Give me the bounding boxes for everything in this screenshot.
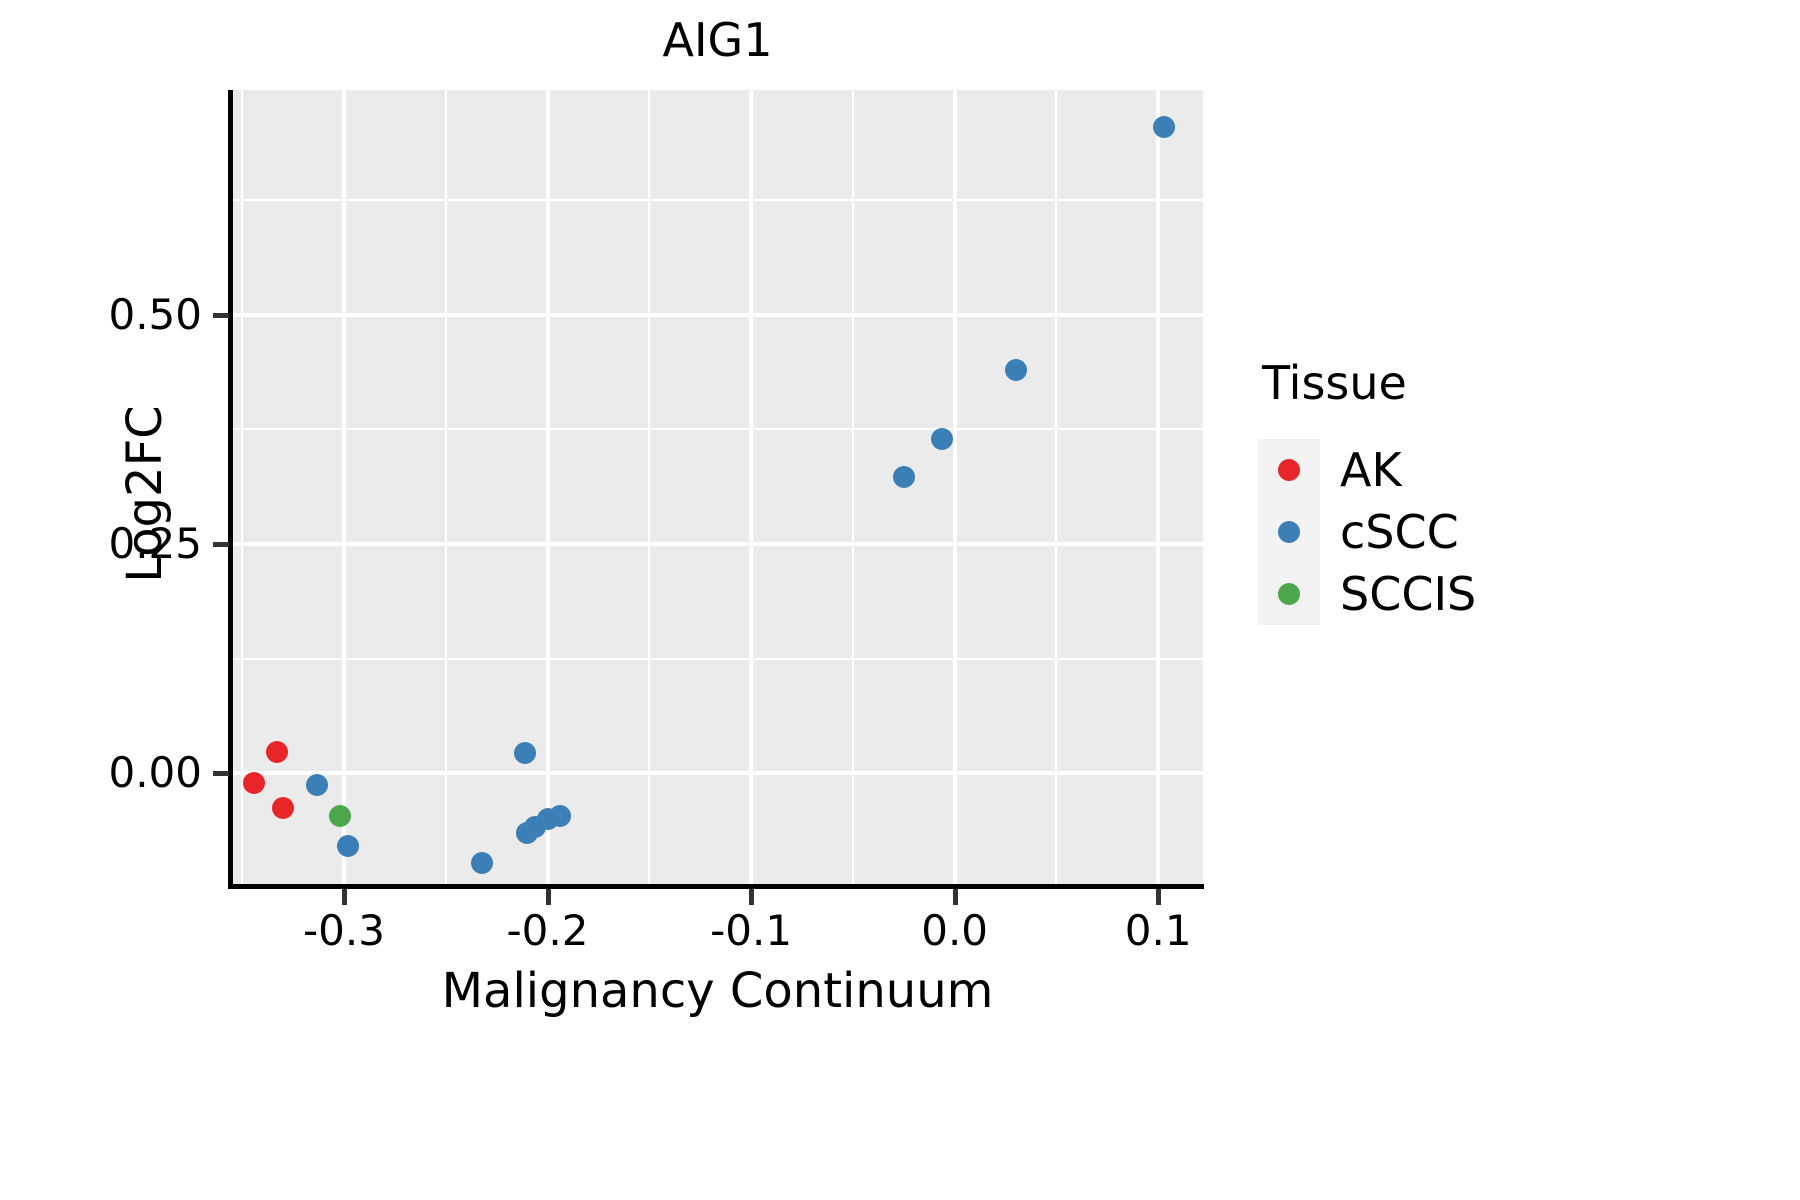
data-point-ak bbox=[272, 797, 294, 819]
legend-item-cscc[interactable]: cSCC bbox=[1258, 501, 1476, 563]
data-point-ak bbox=[243, 772, 265, 794]
legend-dot-icon bbox=[1278, 521, 1300, 543]
x-axis-tick bbox=[1156, 889, 1161, 905]
gridline-major-horizontal bbox=[232, 313, 1203, 317]
y-axis-title: Log2FC bbox=[116, 94, 174, 894]
gridline-minor-vertical bbox=[852, 90, 854, 888]
x-axis-tick bbox=[342, 889, 347, 905]
scatter-plot-figure: AIG1 0.000.250.50-0.3-0.2-0.10.00.1 Mali… bbox=[0, 0, 1800, 1200]
x-axis-line bbox=[228, 884, 1204, 889]
legend-key-swatch bbox=[1258, 439, 1320, 501]
legend-item-ak[interactable]: AK bbox=[1258, 439, 1476, 501]
gridline-minor-vertical bbox=[241, 90, 243, 888]
data-point-cscc bbox=[471, 852, 493, 874]
y-axis-tick bbox=[213, 542, 229, 547]
legend-item-label: AK bbox=[1340, 442, 1402, 498]
gridline-major-horizontal bbox=[232, 542, 1203, 546]
data-point-cscc bbox=[514, 742, 536, 764]
gridline-minor-vertical bbox=[445, 90, 447, 888]
x-axis-tick-label: 0.0 bbox=[855, 910, 1055, 952]
data-point-cscc bbox=[1153, 116, 1175, 138]
gridline-major-vertical bbox=[749, 90, 753, 888]
legend-dot-icon bbox=[1278, 459, 1300, 481]
data-point-cscc bbox=[893, 466, 915, 488]
data-point-cscc bbox=[931, 428, 953, 450]
legend-item-label: cSCC bbox=[1340, 504, 1459, 560]
data-point-ak bbox=[266, 741, 288, 763]
legend-item-sccis[interactable]: SCCIS bbox=[1258, 563, 1476, 625]
gridline-minor-vertical bbox=[648, 90, 650, 888]
data-point-cscc bbox=[549, 805, 571, 827]
y-axis-line bbox=[228, 90, 233, 889]
gridline-major-horizontal bbox=[232, 771, 1203, 775]
data-point-cscc bbox=[306, 774, 328, 796]
legend-entries: AKcSCCSCCIS bbox=[1258, 439, 1476, 625]
gridline-major-vertical bbox=[546, 90, 550, 888]
legend: Tissue AKcSCCSCCIS bbox=[1258, 355, 1476, 625]
x-axis-tick-label: 0.1 bbox=[1058, 910, 1258, 952]
x-axis-tick bbox=[546, 889, 551, 905]
legend-dot-icon bbox=[1278, 583, 1300, 605]
gridline-major-vertical bbox=[342, 90, 346, 888]
page-title: AIG1 bbox=[232, 12, 1203, 68]
data-point-cscc bbox=[337, 835, 359, 857]
legend-key-swatch bbox=[1258, 563, 1320, 625]
y-axis-tick bbox=[213, 313, 229, 318]
gridline-major-vertical bbox=[1156, 90, 1160, 888]
x-axis-tick bbox=[953, 889, 958, 905]
data-point-cscc bbox=[1005, 359, 1027, 381]
x-axis-title: Malignancy Continuum bbox=[232, 962, 1203, 1020]
gridline-minor-vertical bbox=[1055, 90, 1057, 888]
gridline-major-vertical bbox=[953, 90, 957, 888]
plot-panel bbox=[232, 90, 1203, 888]
legend-title: Tissue bbox=[1258, 355, 1476, 411]
x-axis-tick-label: -0.1 bbox=[651, 910, 851, 952]
legend-key-swatch bbox=[1258, 501, 1320, 563]
y-axis-tick bbox=[213, 771, 229, 776]
data-point-sccis bbox=[329, 805, 351, 827]
x-axis-tick-label: -0.3 bbox=[244, 910, 444, 952]
x-axis-tick-label: -0.2 bbox=[448, 910, 648, 952]
x-axis-tick bbox=[749, 889, 754, 905]
legend-item-label: SCCIS bbox=[1340, 566, 1476, 622]
